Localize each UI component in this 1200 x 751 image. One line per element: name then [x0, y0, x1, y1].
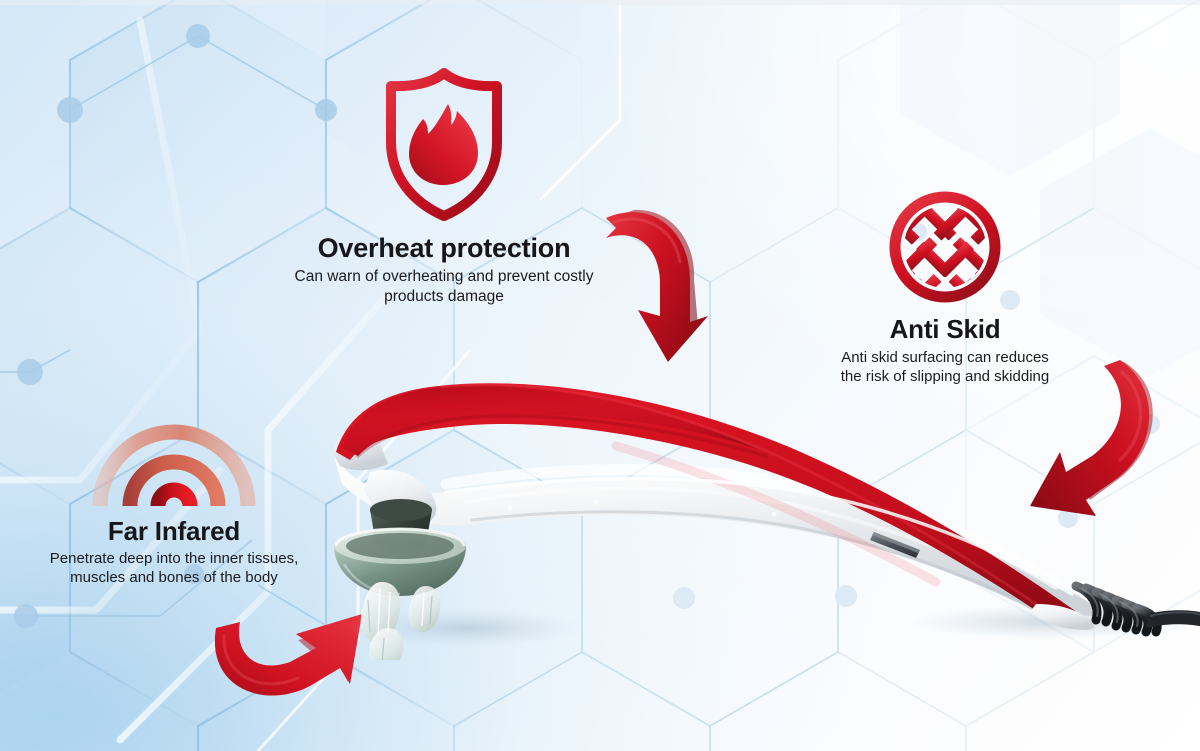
- shield-flame-icon: [378, 64, 510, 224]
- feature-title-far-infrared: Far Infared: [14, 518, 334, 545]
- infographic-canvas: Overheat protection Can warn of overheat…: [0, 0, 1200, 751]
- woven-circle-icon: [886, 188, 1004, 306]
- infrared-waves-icon: [86, 424, 262, 510]
- feature-description-overheat: Can warn of overheating and prevent cost…: [248, 267, 640, 307]
- feature-anti-skid: Anti Skid Anti skid surfacing can reduce…: [800, 188, 1090, 387]
- feature-title-overheat: Overheat protection: [248, 234, 640, 262]
- feature-far-infrared: Far Infared Penetrate deep into the inne…: [14, 424, 334, 588]
- feature-overheat-protection: Overheat protection Can warn of overheat…: [248, 64, 640, 307]
- massager-illustration: [296, 360, 1200, 660]
- feature-description-far-infrared: Penetrate deep into the inner tissues, m…: [14, 549, 334, 587]
- feature-title-anti-skid: Anti Skid: [800, 316, 1090, 343]
